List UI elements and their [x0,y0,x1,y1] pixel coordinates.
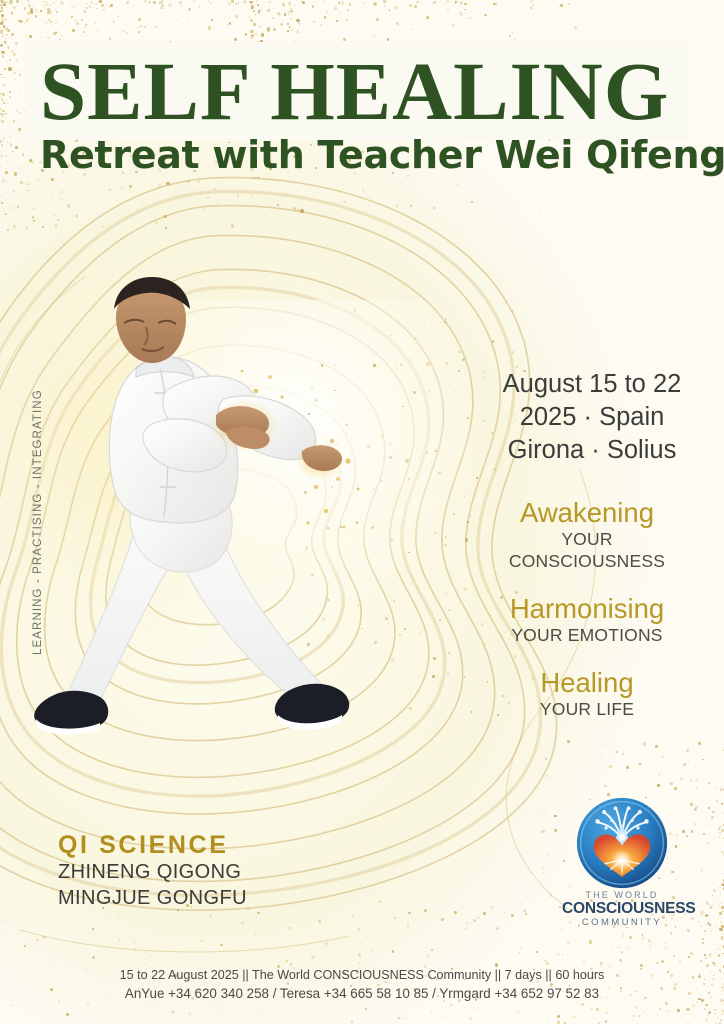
poster-canvas: SELF HEALING Retreat with Teacher Wei Qi… [0,0,724,1024]
page-title: SELF HEALING [40,43,700,139]
qi-science-title: QI SCIENCE [58,830,388,860]
qi-science-line-1: ZHINENG QIGONG [58,860,388,886]
event-year-country-line: 2025 · Spain [468,401,716,434]
footer: 15 to 22 August 2025 || The World CONSCI… [0,966,724,1003]
organisation-logo: THE WORLD CONSCIOUSNESS COMMUNITY [562,796,682,931]
footer-details-line: 15 to 22 August 2025 || The World CONSCI… [0,966,724,984]
benefit-heading: Harmonising [458,593,716,624]
logo-line-3: COMMUNITY [562,918,682,928]
qi-science-line-2: MINGJUE GONGFU [58,886,388,912]
benefit-item-harmonising: Harmonising YOUR EMOTIONS [458,593,716,646]
benefit-subtext-line1: YOUR LIFE [458,698,716,720]
benefit-subtext-line1: YOUR [458,528,716,550]
benefits-list: Awakening YOUR CONSCIOUSNESS Harmonising… [458,497,716,720]
footer-contacts-line: AnYue +34 620 340 258 / Teresa +34 665 5… [0,984,724,1003]
benefit-subtext-line1: YOUR EMOTIONS [458,624,716,646]
logo-line-2: CONSCIOUSNESS [562,901,682,917]
event-date-location: August 15 to 22 2025 · Spain Girona · So… [468,368,716,467]
benefit-item-awakening: Awakening YOUR CONSCIOUSNESS [458,497,716,572]
page-subtitle: Retreat with Teacher Wei Qifeng [40,132,710,178]
benefit-item-healing: Healing YOUR LIFE [458,667,716,720]
consciousness-tree-heart-emblem [575,796,669,890]
benefit-subtext-line2: CONSCIOUSNESS [458,550,716,572]
benefit-heading: Awakening [458,497,716,528]
benefit-heading: Healing [458,667,716,698]
qigong-practitioner-photo [20,265,440,745]
logo-wordmark: THE WORLD CONSCIOUSNESS COMMUNITY [562,891,682,927]
event-date-line: August 15 to 22 [468,368,716,401]
side-tagline-text: LEARNING - PRACTISING - INTEGRATING [32,385,44,655]
qi-science-block: QI SCIENCE ZHINENG QIGONG MINGJUE GONGFU [58,830,388,911]
logo-line-1: THE WORLD [562,891,682,900]
event-city-line: Girona · Solius [468,434,716,467]
